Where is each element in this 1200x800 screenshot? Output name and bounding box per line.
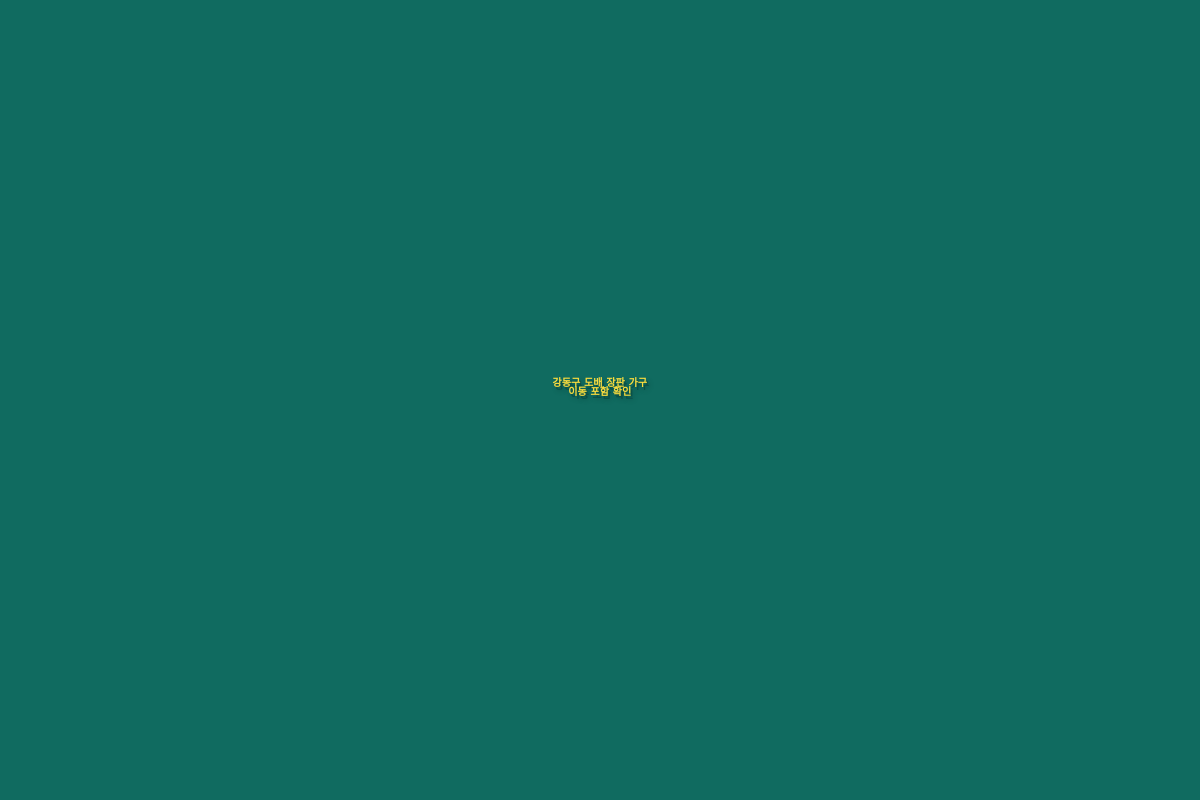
headline-block: 강동구 도배 장판 가구 이동 포함 확인 — [0, 377, 1200, 399]
banner-canvas: 강동구 도배 장판 가구 이동 포함 확인 — [0, 0, 1200, 800]
headline-line-2: 이동 포함 확인 — [0, 386, 1200, 399]
